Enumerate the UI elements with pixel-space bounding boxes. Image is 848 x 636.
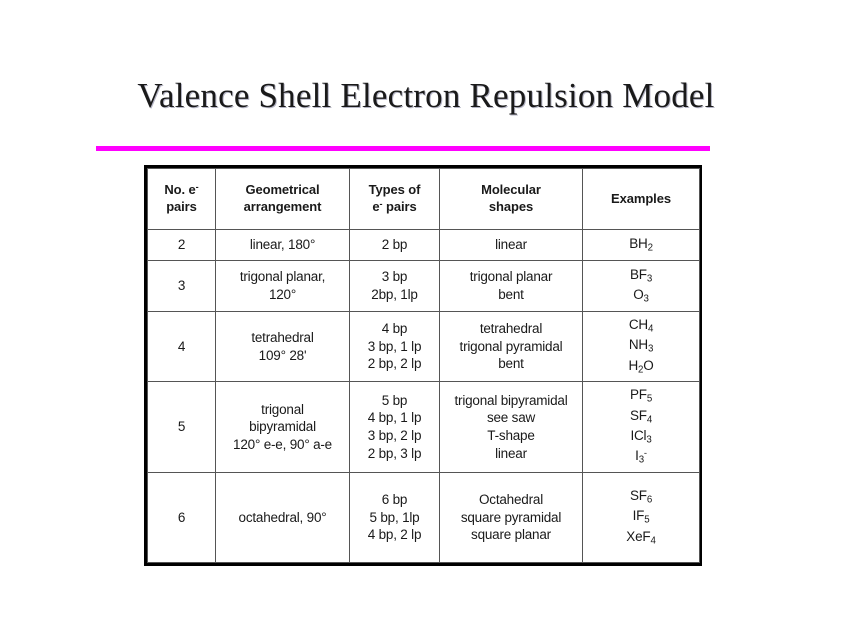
cell-types-of-e-pairs: 5 bp4 bp, 1 lp3 bp, 2 lp2 bp, 3 lp [350, 382, 440, 473]
cell-line: bent [442, 286, 580, 304]
column-header-line: No. e- [150, 182, 213, 199]
cell-molecular-shapes: Octahedralsquare pyramidalsquare planar [440, 473, 583, 563]
cell-line: trigonal planar [442, 268, 580, 286]
cell-line: Octahedral [442, 491, 580, 509]
cell-molecular-shapes: trigonal planarbent [440, 261, 583, 312]
cell-line: square pyramidal [442, 509, 580, 527]
cell-line: 5 bp [352, 392, 437, 410]
table-row: 6octahedral, 90°6 bp5 bp, 1lp4 bp, 2 lpO… [148, 473, 700, 563]
table-row: 3trigonal planar,120°3 bp2bp, 1lptrigona… [148, 261, 700, 312]
formula-subscript: 3 [647, 273, 652, 284]
cell-no-e-pairs: 5 [148, 382, 216, 473]
cell-line: tetrahedral [218, 329, 347, 347]
column-header-line: Types of [352, 182, 437, 199]
column-header-types-of-e-pairs: Types of e- pairs [350, 169, 440, 230]
column-header-line: shapes [442, 199, 580, 216]
chemical-formula: H2O [585, 357, 697, 377]
formula-subscript: 3 [646, 435, 651, 446]
column-header-line: e- pairs [352, 199, 437, 216]
cell-line: 2bp, 1lp [352, 286, 437, 304]
chemical-formula: O3 [585, 286, 697, 306]
cell-line: T-shape [442, 427, 580, 445]
chemical-formula: SF4 [585, 407, 697, 427]
cell-line: linear, 180° [218, 236, 347, 254]
formula-subscript: 2 [648, 243, 653, 254]
cell-examples: SF6IF5XeF4 [583, 473, 700, 563]
formula-subscript: 3 [644, 294, 649, 305]
cell-line: 4 bp, 1 lp [352, 409, 437, 427]
column-header-geometrical-arrangement: Geometrical arrangement [216, 169, 350, 230]
chemical-formula: BF3 [585, 266, 697, 286]
cell-geometrical-arrangement: trigonalbipyramidal120° e-e, 90° a-e [216, 382, 350, 473]
column-header-line: pairs [150, 199, 213, 216]
cell-line: 2 bp, 2 lp [352, 355, 437, 373]
chemical-formula: CH4 [585, 316, 697, 336]
cell-line: tetrahedral [442, 320, 580, 338]
column-header-molecular-shapes: Molecular shapes [440, 169, 583, 230]
cell-line: trigonal bipyramidal [442, 392, 580, 410]
formula-subscript: 5 [647, 394, 652, 405]
cell-line: linear [442, 236, 580, 254]
cell-line: linear [442, 445, 580, 463]
formula-subscript: 4 [648, 324, 653, 335]
superscript-minus: - [196, 182, 199, 192]
formula-subscript: 3 [648, 344, 653, 355]
cell-line: trigonal [218, 401, 347, 419]
cell-no-e-pairs: 6 [148, 473, 216, 563]
column-header-no-e-pairs: No. e- pairs [148, 169, 216, 230]
cell-molecular-shapes: linear [440, 230, 583, 261]
cell-types-of-e-pairs: 3 bp2bp, 1lp [350, 261, 440, 312]
cell-line: 4 bp [352, 320, 437, 338]
chemical-formula: SF6 [585, 487, 697, 507]
cell-line: square planar [442, 526, 580, 544]
cell-no-e-pairs: 2 [148, 230, 216, 261]
formula-subscript: 4 [647, 414, 652, 425]
cell-line: 2 bp [352, 236, 437, 254]
chemical-formula: XeF4 [585, 528, 697, 548]
formula-subscript: 4 [650, 535, 655, 546]
cell-examples: BF3O3 [583, 261, 700, 312]
cell-line: 6 bp [352, 491, 437, 509]
cell-examples: CH4NH3H2O [583, 312, 700, 382]
cell-geometrical-arrangement: octahedral, 90° [216, 473, 350, 563]
cell-no-e-pairs: 3 [148, 261, 216, 312]
column-header-line: Molecular [442, 182, 580, 199]
cell-examples: PF5SF4ICl3I3- [583, 382, 700, 473]
chemical-formula: ICl3 [585, 427, 697, 447]
cell-line: see saw [442, 409, 580, 427]
table-row: 2linear, 180°2 bplinearBH2 [148, 230, 700, 261]
table-row: 5trigonalbipyramidal120° e-e, 90° a-e5 b… [148, 382, 700, 473]
cell-line: 120° e-e, 90° a-e [218, 436, 347, 454]
cell-line: trigonal pyramidal [442, 338, 580, 356]
cell-line: 4 bp, 2 lp [352, 526, 437, 544]
title-underline-rule [96, 146, 710, 151]
chemical-formula: NH3 [585, 336, 697, 356]
cell-line: octahedral, 90° [218, 509, 347, 527]
chemical-formula: IF5 [585, 507, 697, 527]
cell-molecular-shapes: tetrahedraltrigonal pyramidalbent [440, 312, 583, 382]
cell-line: 2 bp, 3 lp [352, 445, 437, 463]
column-header-line: Geometrical [218, 182, 347, 199]
cell-geometrical-arrangement: trigonal planar,120° [216, 261, 350, 312]
cell-types-of-e-pairs: 2 bp [350, 230, 440, 261]
formula-subscript: 5 [644, 515, 649, 526]
cell-geometrical-arrangement: linear, 180° [216, 230, 350, 261]
vsepr-table: No. e- pairs Geometrical arrangement Typ… [144, 165, 702, 566]
cell-types-of-e-pairs: 4 bp3 bp, 1 lp2 bp, 2 lp [350, 312, 440, 382]
formula-subscript: 6 [647, 495, 652, 506]
cell-examples: BH2 [583, 230, 700, 261]
cell-line: 3 bp [352, 268, 437, 286]
page-title: Valence Shell Electron Repulsion Model [96, 76, 756, 116]
cell-line: 3 bp, 2 lp [352, 427, 437, 445]
chemical-formula: PF5 [585, 386, 697, 406]
cell-line: bent [442, 355, 580, 373]
chemical-formula: BH2 [585, 235, 697, 255]
formula-subscript: 2 [638, 364, 643, 375]
column-header-examples: Examples [583, 169, 700, 230]
column-header-line: arrangement [218, 199, 347, 216]
cell-line: bipyramidal [218, 418, 347, 436]
table-row: 4tetrahedral109° 28'4 bp3 bp, 1 lp2 bp, … [148, 312, 700, 382]
cell-line: 120° [218, 286, 347, 304]
cell-geometrical-arrangement: tetrahedral109° 28' [216, 312, 350, 382]
cell-line: trigonal planar, [218, 268, 347, 286]
chemical-formula: I3- [585, 447, 697, 467]
cell-line: 109° 28' [218, 347, 347, 365]
cell-molecular-shapes: trigonal bipyramidalsee sawT-shapelinear [440, 382, 583, 473]
table-header-row: No. e- pairs Geometrical arrangement Typ… [148, 169, 700, 230]
formula-charge: - [644, 448, 647, 459]
cell-no-e-pairs: 4 [148, 312, 216, 382]
cell-line: 3 bp, 1 lp [352, 338, 437, 356]
cell-types-of-e-pairs: 6 bp5 bp, 1lp4 bp, 2 lp [350, 473, 440, 563]
cell-line: 5 bp, 1lp [352, 509, 437, 527]
